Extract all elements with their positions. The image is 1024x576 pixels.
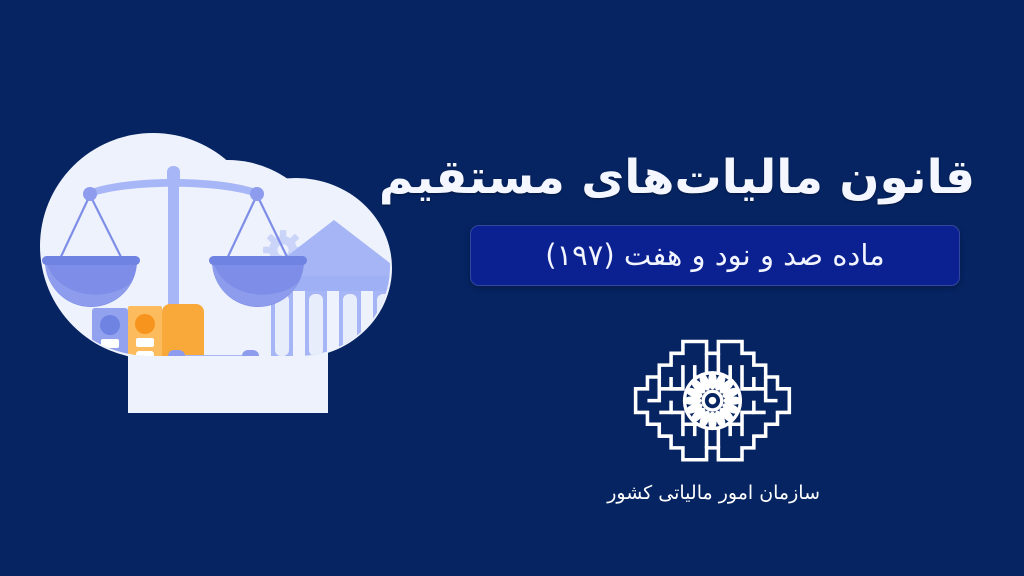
content-column: قانون مالیات‌های مستقیم ماده صد و نود و …: [455, 140, 975, 540]
organization-name: سازمان امور مالیاتی کشور: [610, 482, 820, 504]
article-badge: ماده صد و نود و هفت (۱۹۷): [470, 225, 960, 286]
organization-logo: سازمان امور مالیاتی کشور: [610, 328, 820, 504]
slide-root: قانون مالیات‌های مستقیم ماده صد و نود و …: [0, 0, 1024, 576]
rosette-icon: [683, 371, 742, 430]
page-title: قانون مالیات‌های مستقیم: [455, 150, 975, 205]
article-label: ماده صد و نود و هفت (۱۹۷): [545, 241, 884, 270]
inta-emblem-icon: [630, 328, 800, 480]
